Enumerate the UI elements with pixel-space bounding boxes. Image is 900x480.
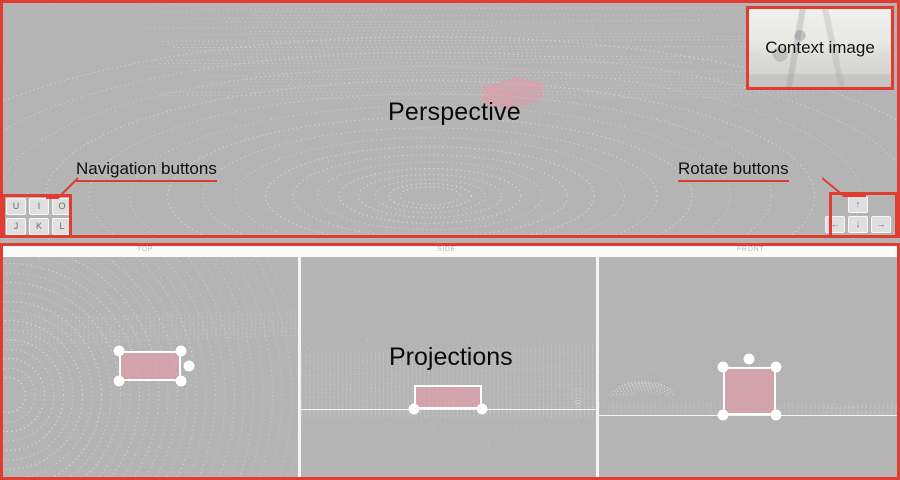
arrow-right-icon[interactable]: →: [871, 216, 891, 233]
box-handle-front-top[interactable]: [744, 354, 755, 365]
subpanel-title-top: TOP: [137, 243, 153, 257]
side-ground-line: [301, 409, 596, 410]
arrow-down-icon[interactable]: ↓: [848, 216, 868, 233]
navigation-row-bottom: J K L: [6, 218, 72, 235]
box-handle-top-ne[interactable]: [176, 346, 187, 357]
nav-key-u[interactable]: U: [6, 198, 26, 215]
box-handle-side-se[interactable]: [477, 404, 488, 415]
rotate-spacer-left: [825, 196, 845, 213]
callout-navigation-buttons: Navigation buttons: [76, 159, 217, 182]
rotate-row-bottom: ← ↓ →: [825, 216, 891, 233]
box-handle-top-heading[interactable]: [184, 361, 195, 372]
annotation-tool-root: Perspective Context image U I O J K L ↑: [0, 0, 900, 480]
context-image-panel[interactable]: Context image: [746, 6, 894, 90]
bounding-box-top[interactable]: [119, 351, 181, 381]
nav-key-i[interactable]: I: [29, 198, 49, 215]
box-handle-top-nw[interactable]: [114, 346, 125, 357]
panel-divider-1: [298, 257, 301, 480]
nav-key-j[interactable]: J: [6, 218, 26, 235]
box-handle-top-sw[interactable]: [114, 376, 125, 387]
nav-key-l[interactable]: L: [52, 218, 72, 235]
box-handle-front-nw[interactable]: [718, 362, 729, 373]
perspective-view[interactable]: Perspective Context image U I O J K L ↑: [0, 0, 900, 238]
subpanel-title-side: SIDE: [437, 243, 456, 257]
front-ground-line: [599, 415, 900, 416]
rotate-spacer-right: [871, 196, 891, 213]
rotate-row-top: ↑: [825, 196, 891, 213]
navigation-row-top: U I O: [6, 198, 72, 215]
callout-rotate-buttons: Rotate buttons: [678, 159, 789, 182]
projection-panel-front[interactable]: [599, 257, 900, 480]
subpanel-title-front: FRONT: [737, 243, 764, 257]
nav-key-k[interactable]: K: [29, 218, 49, 235]
projections-label: Projections: [389, 343, 513, 372]
rotate-buttons[interactable]: ↑ ← ↓ →: [825, 196, 891, 233]
perspective-label: Perspective: [388, 98, 521, 127]
context-image-caption: Context image: [749, 38, 891, 58]
box-handle-side-sw[interactable]: [409, 404, 420, 415]
nav-key-o[interactable]: O: [52, 198, 72, 215]
box-handle-top-se[interactable]: [176, 376, 187, 387]
box-handle-front-se[interactable]: [771, 410, 782, 421]
arrow-left-icon[interactable]: ←: [825, 216, 845, 233]
panel-divider-2: [596, 257, 599, 480]
navigation-buttons[interactable]: U I O J K L: [6, 198, 72, 235]
callout-navigation-label: Navigation buttons: [76, 159, 217, 180]
arrow-up-icon[interactable]: ↑: [848, 196, 868, 213]
projection-panel-top[interactable]: [0, 257, 298, 480]
callout-rotate-label: Rotate buttons: [678, 159, 789, 180]
box-handle-front-sw[interactable]: [718, 410, 729, 421]
box-handle-front-ne[interactable]: [771, 362, 782, 373]
bounding-box-front[interactable]: [723, 367, 776, 415]
callout-navigation-underline: [76, 180, 217, 182]
bounding-box-side[interactable]: [414, 385, 482, 409]
projections-header: TOP SIDE FRONT: [0, 243, 900, 257]
callout-rotate-underline: [678, 180, 789, 182]
